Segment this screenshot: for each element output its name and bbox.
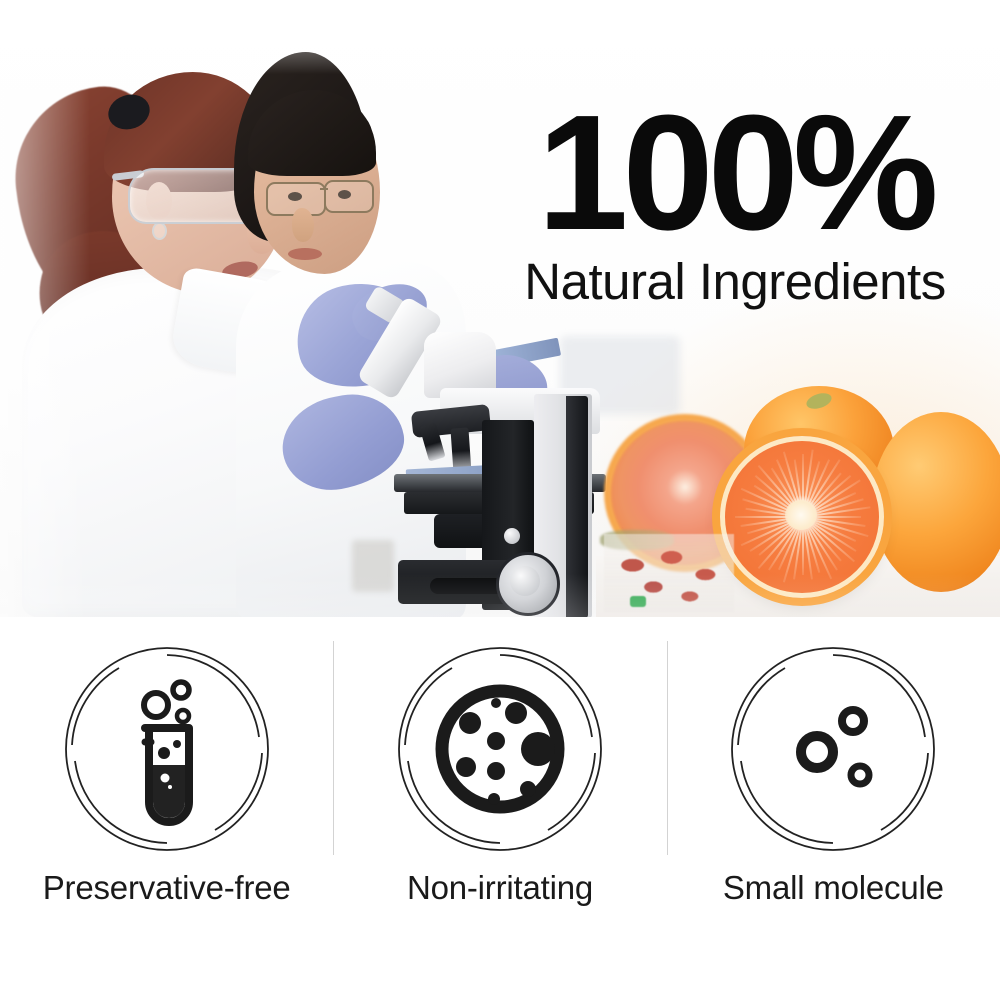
eyeglasses-lens-right	[324, 180, 374, 213]
orange-core	[785, 500, 817, 530]
feature-item-non-irritating[interactable]: Non-irritating	[333, 617, 666, 1000]
feature-item-preservative-free[interactable]: Preservative-free	[0, 617, 333, 1000]
eyeglasses-bridge	[320, 188, 328, 190]
scientist-b-nose	[292, 208, 314, 242]
capsules-cluster	[604, 534, 734, 612]
orange-whole-right	[872, 412, 1000, 592]
test-tube-bubbles-icon	[59, 641, 275, 857]
microscope-focus-knob-inner	[510, 566, 540, 596]
feature-label-non-irritating: Non-irritating	[407, 869, 593, 907]
feature-item-small-molecule[interactable]: Small molecule	[667, 617, 1000, 1000]
feature-highlights-section: Preservative-free	[0, 617, 1000, 1000]
scientist-a-earring	[152, 222, 167, 240]
feature-label-preservative-free: Preservative-free	[43, 869, 291, 907]
feature-label-small-molecule: Small molecule	[723, 869, 944, 907]
molecule-rings-icon	[725, 641, 941, 857]
green-capsule	[630, 596, 646, 607]
headline-subtitle: Natural Ingredients	[505, 255, 965, 309]
hero-photo-section: 100% Natural Ingredients	[0, 0, 1000, 617]
petri-dish-dots-icon	[392, 641, 608, 857]
headline-block: 100% Natural Ingredients	[505, 95, 965, 308]
scientist-b-lips	[288, 248, 322, 260]
microscope-body-panel	[566, 396, 588, 617]
microscope-fine-focus-knob	[504, 528, 520, 544]
lab-background-jar	[352, 540, 394, 592]
product-feature-banner: 100% Natural Ingredients	[0, 0, 1000, 1000]
headline-percentage: 100%	[505, 95, 965, 251]
